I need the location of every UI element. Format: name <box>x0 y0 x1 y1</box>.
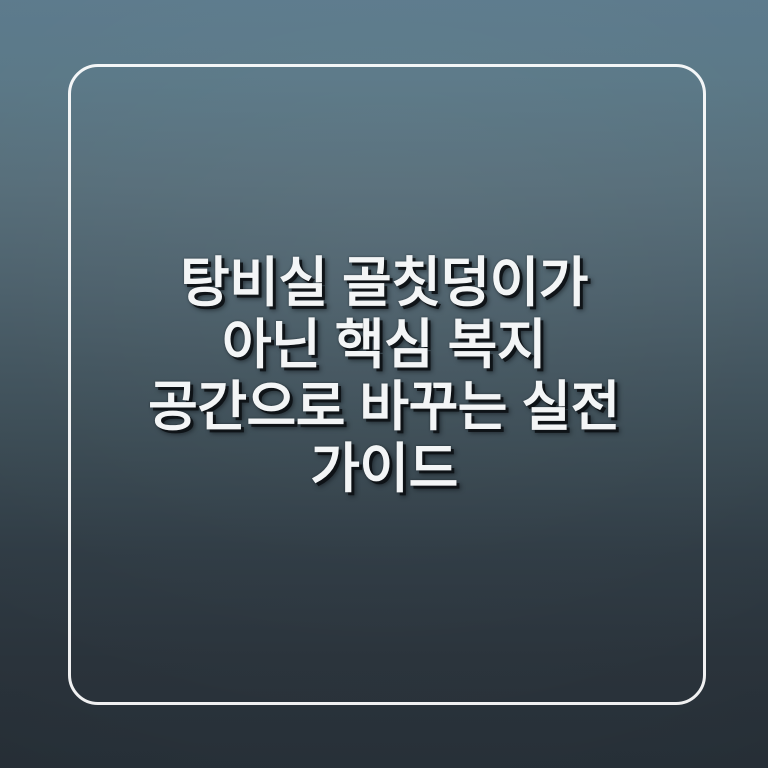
headline-line-2: 아닌 핵심 복지 <box>86 314 682 376</box>
headline-line-3: 공간으로 바꾸는 실전 <box>86 376 682 438</box>
headline-text-block: 탕비실 골칫덩이가 아닌 핵심 복지 공간으로 바꾸는 실전 가이드 <box>0 252 768 500</box>
headline-line-4: 가이드 <box>86 438 682 500</box>
headline-line-1: 탕비실 골칫덩이가 <box>86 252 682 314</box>
poster-canvas: 탕비실 골칫덩이가 아닌 핵심 복지 공간으로 바꾸는 실전 가이드 <box>0 0 768 768</box>
